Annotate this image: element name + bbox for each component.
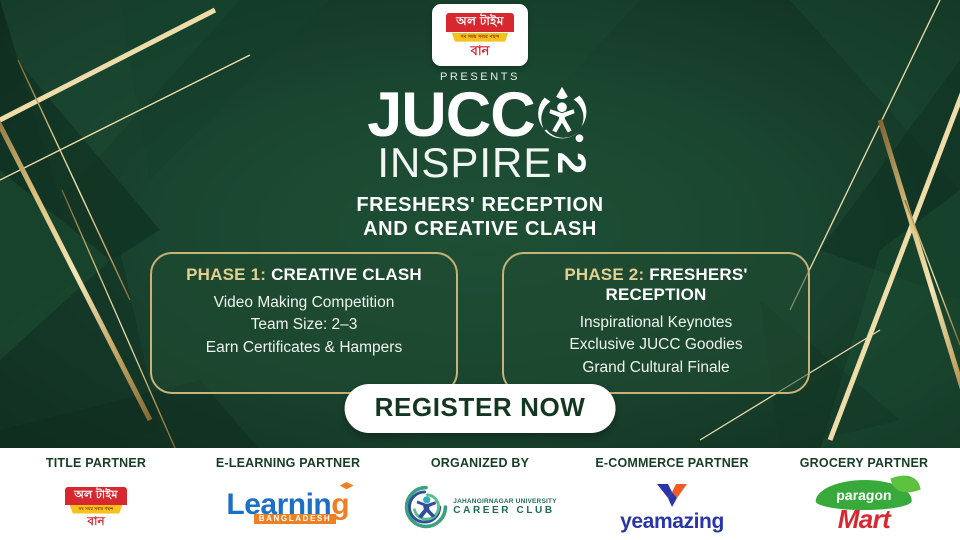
yeamazing-logo: yeamazing — [620, 481, 724, 534]
club-line-1: JAHANGIRNAGAR UNIVERSITY — [453, 498, 556, 505]
phase-1-label: PHASE 1: — [186, 265, 266, 284]
phase-1-line-1: Video Making Competition — [162, 292, 446, 314]
phase-2-line-1: Inspirational Keynotes — [514, 312, 798, 334]
phase-2-line-3: Grand Cultural Finale — [514, 357, 798, 379]
career-club-emblem-icon — [403, 484, 449, 530]
presenter-block: অল টাইম সব সময় সবার পছন্দ বান PRESENTS — [0, 4, 960, 83]
subtitle-line-1: FRESHERS' RECEPTION — [356, 193, 603, 217]
paragon-leaf-icon: ™ paragon — [815, 480, 913, 510]
partner-grocery-label: GROCERY PARTNER — [800, 456, 928, 470]
learning-word-accent: g — [331, 490, 349, 520]
jucc-emblem-icon — [531, 84, 593, 146]
partner-elearning-label: E-LEARNING PARTNER — [216, 456, 360, 470]
phase-cards: PHASE 1: CREATIVE CLASH Video Making Com… — [0, 252, 960, 394]
trademark-symbol: ™ — [906, 476, 911, 482]
phase-2-label: PHASE 2: — [564, 265, 644, 284]
all-time-brand-bottom: বান — [87, 515, 104, 527]
phase-2-heading: PHASE 2: FRESHERS' RECEPTION — [514, 265, 798, 305]
learning-bangladesh-logo: Learnin g BANGLADESH — [226, 490, 349, 524]
partner-ecommerce-label: E-COMMERCE PARTNER — [595, 456, 748, 470]
edition-number: 2 — [552, 152, 592, 174]
all-time-brand-ribbon: সব সময় সবার পছন্দ — [70, 505, 123, 514]
partner-organizer-label: ORGANIZED BY — [431, 456, 529, 470]
jucc-wordmark: JUCC — [367, 86, 535, 146]
phase-1-line-2: Team Size: 2–3 — [162, 314, 446, 336]
all-time-brand-ribbon: সব সময় সবার পছন্দ — [452, 33, 509, 42]
jahangirnagar-university-career-club-logo: JAHANGIRNAGAR UNIVERSITY CAREER CLUB — [403, 484, 556, 530]
all-time-brand-top: অল টাইম — [446, 13, 513, 33]
learning-word-main: Learnin — [226, 490, 331, 520]
all-time-brand-top: অল টাইম — [65, 487, 127, 506]
all-time-bun-logo: অল টাইম সব সময় সবার পছন্দ বান — [432, 4, 528, 66]
poster-subtitle: FRESHERS' RECEPTION AND CREATIVE CLASH — [356, 193, 603, 242]
yeamazing-mark-icon — [655, 481, 689, 509]
phase-card-1: PHASE 1: CREATIVE CLASH Video Making Com… — [150, 252, 458, 394]
phase-1-heading: PHASE 1: CREATIVE CLASH — [162, 265, 446, 285]
event-poster: অল টাইম সব সময় সবার পছন্দ বান PRESENTS … — [0, 0, 960, 540]
inspire-row: INSPIRE 2 — [377, 142, 582, 184]
partners-footer: TITLE PARTNER অল টাইম সব সময় সবার পছন্দ… — [0, 448, 960, 540]
subtitle-line-2: AND CREATIVE CLASH — [356, 217, 603, 241]
paragon-mart-logo: ™ paragon Mart — [816, 480, 912, 535]
phase-1-name: CREATIVE CLASH — [271, 265, 422, 284]
jucc-wordmark-row: JUCC — [367, 86, 593, 146]
club-line-2: CAREER CLUB — [453, 505, 556, 517]
register-now-button[interactable]: REGISTER NOW — [345, 384, 616, 433]
all-time-bun-logo: অল টাইম সব সময় সবার পছন্দ বান — [65, 487, 127, 526]
title-block: JUCC INSPIRE 2 FRESHERS' RECEPTION AND C… — [0, 86, 960, 242]
paragon-wordmark: paragon — [836, 487, 892, 503]
phase-card-2: PHASE 2: FRESHERS' RECEPTION Inspiration… — [502, 252, 810, 394]
partner-ecommerce: E-COMMERCE PARTNER yeamazing — [576, 448, 768, 540]
partner-title: TITLE PARTNER অল টাইম সব সময় সবার পছন্দ… — [0, 448, 192, 540]
inspire-word: INSPIRE — [377, 142, 552, 184]
phase-1-line-3: Earn Certificates & Hampers — [162, 337, 446, 359]
partner-grocery: GROCERY PARTNER ™ paragon Mart — [768, 448, 960, 540]
phase-2-line-2: Exclusive JUCC Goodies — [514, 334, 798, 356]
partner-organizer: ORGANIZED BY JAHANGIRNAGAR UNIVERSITY CA… — [384, 448, 576, 540]
partner-elearning: E-LEARNING PARTNER Learnin g BANGLADESH — [192, 448, 384, 540]
partner-title-label: TITLE PARTNER — [46, 456, 146, 470]
yeamazing-wordmark: yeamazing — [620, 510, 724, 534]
all-time-brand-bottom: বান — [471, 44, 490, 57]
